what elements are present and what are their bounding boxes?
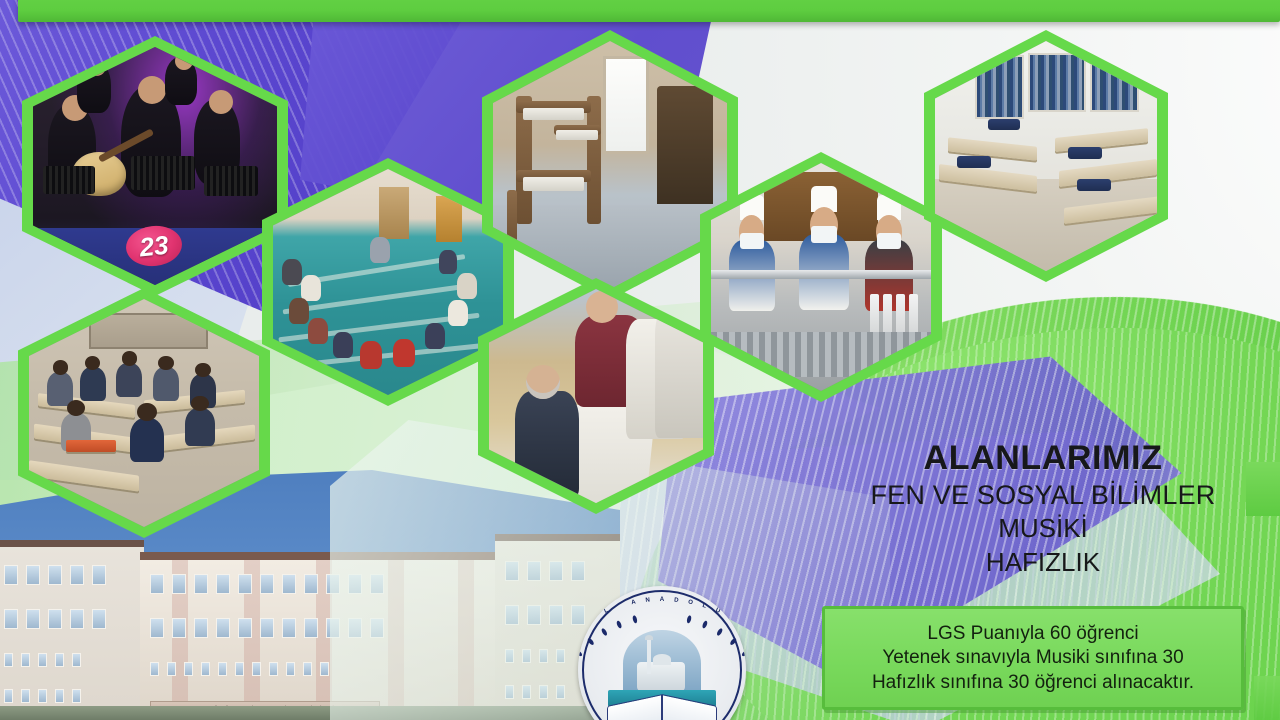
dormitory-scene [493, 41, 727, 289]
kitchen-staff-2 [799, 190, 849, 310]
quota-info-box: LGS Puanıyla 60 öğrenci Yetenek sınavıyl… [822, 606, 1244, 710]
school-crest: HACI HÜSNÜ YAHYAGİL ANADOLU İMAM HATİP L… [578, 586, 746, 720]
quota-line-music: Yetenek sınavıyla Musiki sınıfına 30 [882, 646, 1183, 669]
fields-line-hafizlik: HAFIZLIK [808, 547, 1278, 578]
hex-photo-ceremony-image [489, 289, 703, 503]
fields-text-block: ALANLARIMIZ FEN VE SOSYAL BİLİMLER MUSİK… [808, 440, 1278, 578]
quota-line-hafizlik: Hafızlık sınıfına 30 öğrenci alınacaktır… [872, 671, 1194, 694]
fields-line-music: MUSİKİ [808, 513, 1278, 544]
crest-mosque-illustration [623, 630, 700, 697]
poster-root: HACI HÜSNÜ YAHYAGİL ANADOLU İMAM HATİP L… [0, 0, 1280, 720]
quota-line-lgs: LGS Puanıyla 60 öğrenci [927, 622, 1138, 645]
mosque-scene [273, 169, 503, 395]
hex-photo-library-image [935, 41, 1157, 271]
green-accent-right-bottom [1254, 676, 1280, 720]
ceremony-scene [489, 289, 703, 503]
building-left-wing [0, 540, 144, 720]
hex-photo-music-image: 23 [33, 47, 277, 285]
fields-line-science: FEN VE SOSYAL BİLİMLER [808, 479, 1278, 511]
classroom-scene [29, 299, 259, 527]
hex-photo-classroom-image [29, 299, 259, 527]
music-scene: 23 [33, 47, 277, 285]
fields-heading: ALANLARIMIZ [808, 440, 1278, 476]
kitchen-scene [711, 163, 931, 391]
hex-photo-kitchen-image [711, 163, 931, 391]
crest-open-book [607, 700, 718, 720]
top-banner [18, 0, 1280, 22]
hex-photo-dormitory-image [493, 41, 727, 289]
kitchen-staff-1 [729, 199, 775, 311]
library-scene [935, 41, 1157, 271]
hex-photo-mosque-image [273, 169, 503, 395]
